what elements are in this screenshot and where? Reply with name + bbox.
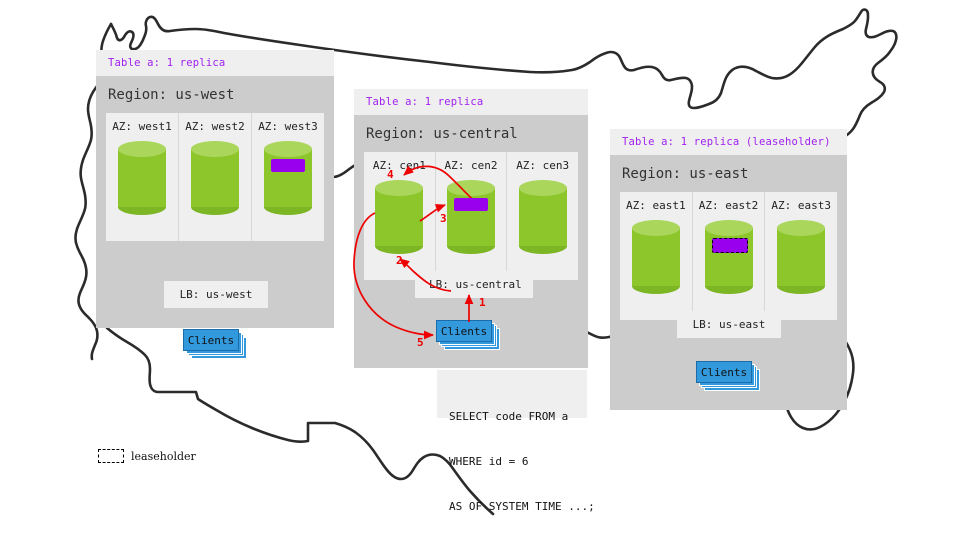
region-label: Region: us-west xyxy=(96,76,334,113)
az-label: AZ: east1 xyxy=(626,199,686,212)
region-table-title: Table a: 1 replica (leaseholder) xyxy=(610,129,847,155)
az-row: AZ: west1 AZ: west2 AZ: west3 xyxy=(106,113,324,241)
cylinder-body xyxy=(777,228,825,286)
az-label: AZ: west1 xyxy=(112,120,172,133)
node-cylinder-west2[interactable] xyxy=(191,141,239,215)
region-panel-us-east: Table a: 1 replica (leaseholder) Region:… xyxy=(610,129,847,410)
replica-marker-cen2 xyxy=(454,198,488,211)
load-balancer-us-east[interactable]: LB: us-east xyxy=(677,311,781,338)
dashed-rectangle-icon xyxy=(98,449,124,463)
az-label: AZ: east2 xyxy=(699,199,759,212)
clients-label[interactable]: Clients xyxy=(436,320,492,342)
step-number-2: 2 xyxy=(396,254,403,267)
az-cell-east2[interactable]: AZ: east2 xyxy=(693,192,766,320)
step-number-1: 1 xyxy=(479,296,486,309)
cylinder-top xyxy=(632,220,680,236)
cylinder-body xyxy=(375,188,423,246)
node-cylinder-cen2[interactable] xyxy=(447,180,495,254)
az-cell-east3[interactable]: AZ: east3 xyxy=(765,192,837,320)
sql-line-1: SELECT code FROM a xyxy=(449,409,575,424)
legend-leaseholder: leaseholder xyxy=(98,449,196,463)
node-cylinder-west1[interactable] xyxy=(118,141,166,215)
node-cylinder-east3[interactable] xyxy=(777,220,825,294)
az-cell-west2[interactable]: AZ: west2 xyxy=(179,113,252,241)
clients-stack-us-east[interactable]: Clients xyxy=(696,361,760,391)
az-cell-west1[interactable]: AZ: west1 xyxy=(106,113,179,241)
az-row: AZ: east1 AZ: east2 AZ: east3 xyxy=(620,192,837,320)
cylinder-top xyxy=(191,141,239,157)
az-label: AZ: cen1 xyxy=(373,159,426,172)
step-number-3: 3 xyxy=(440,212,447,225)
clients-stack-us-west[interactable]: Clients xyxy=(183,329,247,359)
replica-marker-west3 xyxy=(271,159,305,172)
az-label: AZ: east3 xyxy=(771,199,831,212)
cylinder-top xyxy=(118,141,166,157)
leaseholder-replica-marker-east2 xyxy=(712,238,748,253)
cylinder-body xyxy=(447,188,495,246)
clients-label[interactable]: Clients xyxy=(183,329,239,351)
cylinder-top xyxy=(705,220,753,236)
node-cylinder-cen3[interactable] xyxy=(519,180,567,254)
region-table-title: Table a: 1 replica xyxy=(354,89,588,115)
legend-label: leaseholder xyxy=(131,450,196,463)
az-cell-cen3[interactable]: AZ: cen3 xyxy=(507,152,578,280)
step-number-5: 5 xyxy=(417,336,424,349)
cylinder-top xyxy=(447,180,495,196)
az-cell-west3[interactable]: AZ: west3 xyxy=(252,113,324,241)
node-cylinder-cen1[interactable] xyxy=(375,180,423,254)
node-cylinder-east1[interactable] xyxy=(632,220,680,294)
az-label: AZ: west3 xyxy=(258,120,318,133)
clients-stack-us-central[interactable]: Clients xyxy=(436,320,500,350)
cylinder-body xyxy=(705,228,753,286)
load-balancer-us-central[interactable]: LB: us-central xyxy=(415,271,533,298)
region-label: Region: us-east xyxy=(610,155,847,192)
clients-label[interactable]: Clients xyxy=(696,361,752,383)
cylinder-body xyxy=(118,149,166,207)
region-panel-us-west: Table a: 1 replica Region: us-west AZ: w… xyxy=(96,50,334,328)
sql-line-3: AS OF SYSTEM TIME ...; xyxy=(449,499,575,514)
cylinder-top xyxy=(375,180,423,196)
region-table-title: Table a: 1 replica xyxy=(96,50,334,76)
region-label: Region: us-central xyxy=(354,115,588,152)
cylinder-top xyxy=(519,180,567,196)
sql-line-2: WHERE id = 6 xyxy=(449,454,575,469)
cylinder-body xyxy=(191,149,239,207)
sql-query-box: SELECT code FROM a WHERE id = 6 AS OF SY… xyxy=(437,370,587,418)
load-balancer-us-west[interactable]: LB: us-west xyxy=(164,281,268,308)
cylinder-body xyxy=(632,228,680,286)
az-label: AZ: west2 xyxy=(185,120,245,133)
cylinder-top xyxy=(264,141,312,157)
step-number-4: 4 xyxy=(387,168,394,181)
region-panel-us-central: Table a: 1 replica Region: us-central AZ… xyxy=(354,89,588,368)
diagram-canvas: Table a: 1 replica Region: us-west AZ: w… xyxy=(0,0,960,540)
cylinder-body xyxy=(519,188,567,246)
az-cell-east1[interactable]: AZ: east1 xyxy=(620,192,693,320)
cylinder-body xyxy=(264,149,312,207)
az-label: AZ: cen2 xyxy=(445,159,498,172)
az-label: AZ: cen3 xyxy=(516,159,569,172)
cylinder-top xyxy=(777,220,825,236)
node-cylinder-east2[interactable] xyxy=(705,220,753,294)
node-cylinder-west3[interactable] xyxy=(264,141,312,215)
